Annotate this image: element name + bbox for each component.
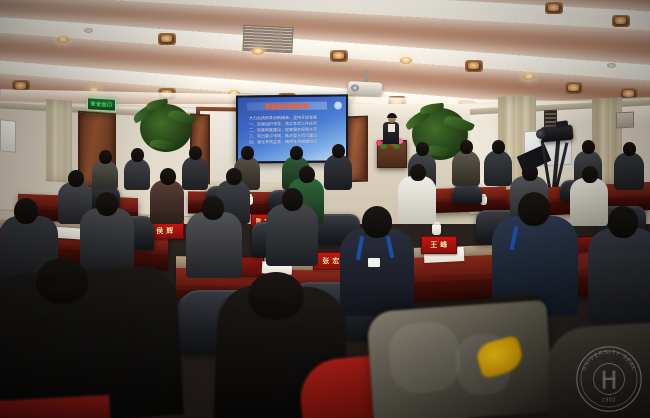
flower-leaf-icon: [393, 144, 400, 149]
attendee-head: [608, 206, 638, 238]
watermark-inner-text: 1902: [602, 397, 616, 403]
attendee-torso: [614, 152, 644, 190]
attendee-head: [623, 142, 636, 156]
name-placard-label: 侯 辉: [156, 226, 173, 236]
spotlight-icon: [565, 82, 583, 94]
spotlight-icon: [158, 33, 176, 45]
attendee-head: [518, 192, 550, 226]
window-curtain: [46, 99, 72, 183]
slide-body: 大力弘扬改革创新精神，坚持开放发展 一、加强组织领导，落实各项工作任务 二、完善…: [249, 115, 333, 146]
conference-room-photo: 安全出口 营造良好发展环境 大力弘扬改革创新精神，坚持开放发展 一、加强组织领导…: [0, 0, 650, 418]
spotlight-icon: [330, 50, 348, 62]
name-placard: 王 峰: [421, 236, 457, 254]
attendee-torso: [340, 228, 414, 316]
attendee-head: [290, 146, 303, 160]
attendee-torso: [92, 160, 118, 190]
attendee-head: [582, 166, 598, 183]
attendee-torso: [324, 154, 352, 190]
attendee-torso: [124, 158, 150, 190]
chair[interactable]: [452, 184, 482, 204]
ceiling-projector: [348, 81, 383, 96]
attendee-head: [362, 206, 392, 238]
attendee-torso: [570, 178, 608, 226]
attendee-torso: [452, 150, 480, 186]
slide-line: 四、强化考核监督，确保各项措施到位: [249, 139, 333, 146]
attendee-torso: [80, 208, 134, 270]
attendee-torso: [398, 176, 436, 224]
camera-lens-icon: [536, 129, 546, 139]
circular-seal-watermark: UNIVERSITY SEAL 1902: [574, 344, 644, 414]
olive-canvas-bag: [366, 300, 553, 418]
attendee-head: [582, 140, 595, 154]
air-vent-icon: [242, 25, 293, 54]
bag-fold: [387, 320, 462, 395]
wall-ac-grill-icon: [616, 112, 634, 129]
wall-notice-board: [0, 119, 16, 152]
downlight-icon: [400, 57, 412, 64]
attendee-head: [492, 140, 505, 154]
attendee-torso: [186, 212, 242, 278]
attendee-torso: [588, 228, 650, 324]
tea-cup: [432, 224, 441, 235]
name-badge: [368, 258, 380, 267]
attendee-head: [332, 144, 345, 158]
attendee-torso: [266, 204, 318, 266]
attendee-head: [241, 146, 254, 160]
projector-lens-icon: [351, 84, 359, 91]
attendee-head: [410, 164, 426, 181]
attendee-head: [96, 192, 118, 216]
spotlight-icon: [612, 15, 630, 27]
attendee-head: [460, 140, 473, 154]
downlight-icon: [523, 73, 535, 80]
attendee-head: [68, 170, 84, 187]
downlight-icon: [252, 48, 264, 55]
attendee-head: [131, 148, 144, 162]
slide-title-text: 营造良好发展环境: [265, 102, 308, 109]
attendee-head: [189, 146, 202, 160]
name-placard-label: 王 峰: [430, 240, 447, 250]
attendee-head: [160, 168, 176, 185]
exit-sign-label: 安全出口: [90, 100, 112, 108]
smoke-detector-icon: [607, 63, 616, 68]
exit-sign: 安全出口: [87, 97, 116, 112]
slide-logo-icon: [334, 101, 342, 109]
attendee-head: [226, 168, 242, 185]
attendee-head: [202, 196, 224, 220]
attendee-head: [522, 164, 538, 181]
foreground-attendee-head: [36, 258, 88, 304]
presenter-hair: [387, 113, 397, 118]
smoke-detector-icon: [84, 28, 93, 33]
attendee-torso: [484, 150, 512, 186]
slide-title-bar: 营造良好发展环境: [247, 102, 327, 111]
flower-leaf-icon: [380, 144, 387, 149]
attendee-head: [282, 188, 303, 211]
attendee-head: [299, 166, 315, 183]
name-placard-label: 张 宏: [322, 256, 339, 266]
foreground-attendee-head: [248, 272, 304, 320]
attendee-head: [416, 142, 429, 156]
attendee-torso: [182, 156, 208, 190]
attendee-head: [99, 150, 112, 164]
downlight-icon: [57, 36, 69, 43]
spotlight-icon: [465, 60, 483, 72]
presenter-shirt: [388, 124, 395, 132]
attendee-head: [14, 198, 38, 224]
attendee-torso: [150, 180, 184, 224]
spotlight-icon: [545, 2, 563, 14]
